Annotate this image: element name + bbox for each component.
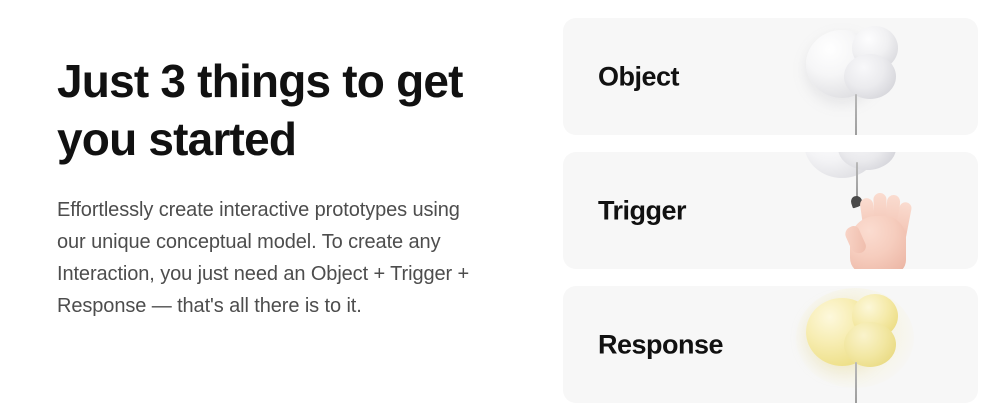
onboarding-page: Just 3 things to get you started Effortl… <box>0 0 1000 416</box>
hand-grabbing-balloon-string-icon <box>798 152 978 269</box>
balloon-string <box>855 362 857 403</box>
card-trigger-label: Trigger <box>598 195 686 226</box>
page-title: Just 3 things to get you started <box>57 52 527 168</box>
card-trigger[interactable]: Trigger <box>563 152 978 269</box>
balloon-lobe-lower <box>844 54 896 99</box>
card-object[interactable]: Object <box>563 18 978 135</box>
card-object-label: Object <box>598 61 679 92</box>
card-response-label: Response <box>598 329 723 360</box>
balloon-string <box>855 94 857 135</box>
intro-text-column: Just 3 things to get you started Effortl… <box>57 52 527 322</box>
hand-icon <box>840 190 932 269</box>
concept-card-list: Object Trigger <box>563 18 978 403</box>
card-response[interactable]: Response <box>563 286 978 403</box>
page-description: Effortlessly create interactive prototyp… <box>57 194 487 322</box>
balloon-lobe-lower <box>844 322 896 367</box>
yellow-balloon-icon <box>798 286 978 403</box>
white-balloon-icon <box>798 18 978 135</box>
